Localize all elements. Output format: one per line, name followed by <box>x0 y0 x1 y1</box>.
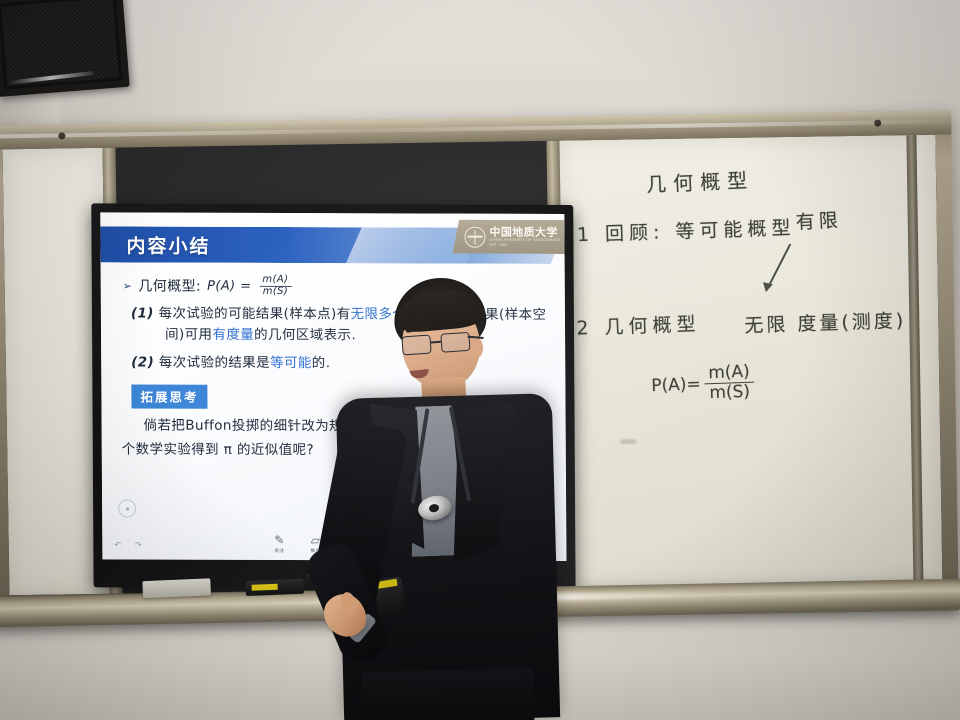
point-2-text-a: 每次试验的结果是 <box>159 354 270 370</box>
glasses-lens-right <box>440 332 470 353</box>
bullet-label: 几何概型: <box>138 276 201 296</box>
university-seal-icon <box>464 226 485 247</box>
whiteboard-formula: P(A)= m(A) m(S) <box>651 363 755 405</box>
whiteboard-fraction: m(A) m(S) <box>704 363 755 404</box>
bullet-fraction: m(A) m(S) <box>259 275 291 297</box>
ceiling-speaker <box>0 0 130 97</box>
whiteboard-line-1: 1 回顾: 等可能概型 <box>576 213 795 247</box>
point-1-line2-highlight: 有度量 <box>212 327 254 343</box>
whiteboard-title: 几何概型 <box>646 164 755 198</box>
logo-text-block: 中国地质大学 CHINA UNIVERSITY OF GEOSCIENCES E… <box>489 227 560 247</box>
whiteboard-arrow-icon <box>766 244 791 291</box>
classroom-photo: 几何概型 1 回顾: 等可能概型 有限 2 几何概型 无限 度量(测度) P(A… <box>0 0 960 720</box>
frame-screw <box>58 132 65 139</box>
bullet-arrow-icon: ➢ <box>123 279 133 292</box>
glasses-lens-left <box>401 335 431 356</box>
whiteboard-formula-denominator: m(S) <box>705 383 754 404</box>
logo-name-cn: 中国地质大学 <box>489 227 560 238</box>
whiteboard-line-1-note: 有限 <box>795 205 842 234</box>
logo-name-en-1: CHINA UNIVERSITY OF GEOSCIENCES <box>489 238 560 243</box>
pen-icon[interactable]: ✎ <box>274 534 284 546</box>
presenter-hand <box>316 586 375 645</box>
presenter-thumb <box>339 590 359 615</box>
presenter <box>318 278 568 720</box>
glasses-bridge <box>431 341 441 343</box>
speaker-grill-icon <box>1 0 119 86</box>
slide-watermark-icon <box>118 499 136 517</box>
whiteboard-smudge <box>620 439 636 443</box>
whiteboard-panel-right[interactable]: 几何概型 1 回顾: 等可能概型 有限 2 几何概型 无限 度量(测度) P(A… <box>559 135 942 587</box>
annotate-tool-label: 批注 <box>275 548 285 554</box>
frame-screw <box>874 120 881 127</box>
bullet-formula-lhs: P(A) = <box>207 278 251 293</box>
annotate-tool[interactable]: ✎ 批注 <box>274 534 284 554</box>
bullet-formula-numerator: m(A) <box>259 275 291 287</box>
bullet-formula-denominator: m(S) <box>260 286 292 297</box>
logo-name-en-2: EST. 1952 <box>489 242 560 247</box>
point-1-line2-a: 间)可用 <box>165 327 212 343</box>
extension-thinking-badge: 拓展思考 <box>131 384 207 408</box>
whiteboard-line-2-note: 无限 度量(测度) <box>744 306 907 338</box>
slide-title: 内容小结 <box>126 231 210 258</box>
marker-box[interactable] <box>245 579 304 596</box>
board-eraser[interactable] <box>142 578 211 598</box>
university-logo: 中国地质大学 CHINA UNIVERSITY OF GEOSCIENCES E… <box>452 220 564 254</box>
whiteboard-formula-lhs: P(A)= <box>651 374 701 396</box>
whiteboard-line-2: 2 几何概型 <box>576 309 701 341</box>
presenter-lower-body <box>361 669 534 720</box>
point-2-index: (2) <box>131 354 154 370</box>
point-2-highlight: 等可能 <box>270 355 312 371</box>
point-1-index: (1) <box>131 305 154 321</box>
